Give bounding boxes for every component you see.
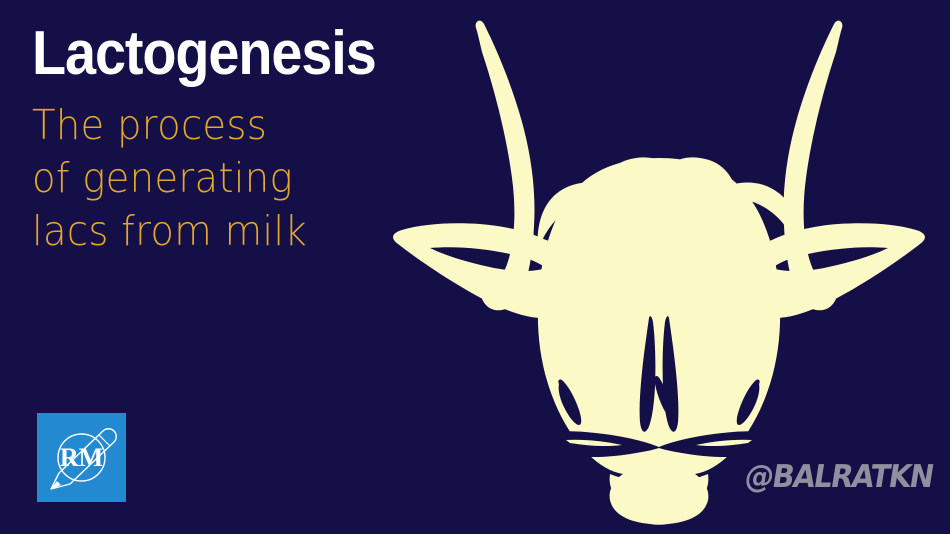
poster-canvas: Lactogenesis The process of generating l… (0, 0, 950, 534)
subtitle-line-1: The process (32, 99, 436, 152)
subtitle-line-3: lacs from milk (32, 205, 436, 258)
watermark-handle: @BALRATKN (742, 458, 935, 495)
subtitle-line-2: of generating (32, 152, 436, 205)
headline-block: Lactogenesis The process of generating l… (32, 22, 462, 258)
rm-logo[interactable]: RM (37, 413, 126, 502)
subtitle: The process of generating lacs from milk (32, 99, 436, 258)
page-title: Lactogenesis (32, 22, 419, 85)
logo-monogram: RM (60, 443, 103, 472)
